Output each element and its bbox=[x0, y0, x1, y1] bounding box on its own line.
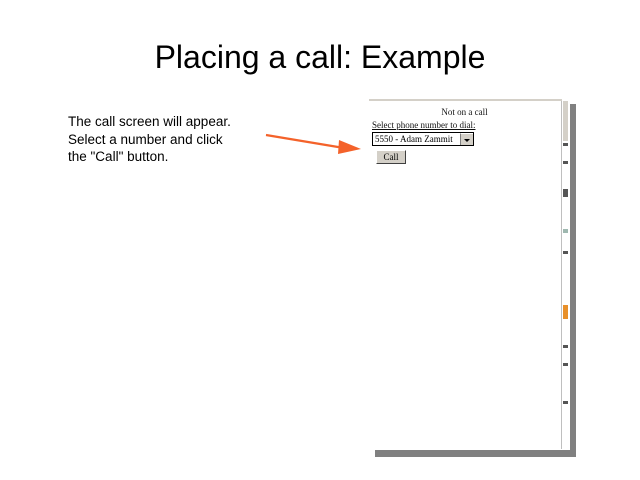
scrollbar-marks bbox=[563, 101, 568, 449]
body-text-line-1: The call screen will appear. bbox=[68, 113, 283, 131]
scroll-mark bbox=[563, 401, 568, 404]
phone-number-select-value: 5550 - Adam Zammit bbox=[375, 134, 455, 145]
web-page-content: Not on a call Select phone number to dia… bbox=[369, 102, 560, 450]
call-status-text: Not on a call bbox=[369, 107, 560, 117]
scroll-mark bbox=[563, 305, 568, 319]
panel-shadow-bottom bbox=[375, 449, 576, 457]
presentation-slide: Placing a call: Example The call screen … bbox=[0, 0, 640, 480]
screenshot-panel: Not on a call Select phone number to dia… bbox=[369, 98, 572, 450]
phone-number-select[interactable]: 5550 - Adam Zammit bbox=[372, 132, 474, 146]
scroll-mark bbox=[563, 143, 568, 146]
vertical-scrollbar[interactable] bbox=[561, 101, 568, 449]
chevron-down-icon[interactable] bbox=[460, 133, 473, 145]
scroll-mark bbox=[563, 161, 568, 164]
chevron-down-glyph bbox=[464, 139, 470, 142]
scroll-mark bbox=[563, 363, 568, 366]
scroll-mark bbox=[563, 189, 568, 197]
scroll-mark bbox=[563, 229, 568, 233]
slide-title: Placing a call: Example bbox=[0, 38, 640, 76]
scroll-mark bbox=[563, 345, 568, 348]
browser-window-capture: Not on a call Select phone number to dia… bbox=[369, 98, 570, 450]
select-phone-number-label: Select phone number to dial: bbox=[372, 120, 475, 130]
slide-body-text: The call screen will appear. Select a nu… bbox=[68, 113, 283, 166]
body-text-line-3: the "Call" button. bbox=[68, 148, 283, 166]
body-text-line-2: Select a number and click bbox=[68, 131, 283, 149]
scroll-mark bbox=[563, 251, 568, 254]
call-button[interactable]: Call bbox=[376, 150, 406, 164]
window-top-divider bbox=[369, 99, 562, 101]
